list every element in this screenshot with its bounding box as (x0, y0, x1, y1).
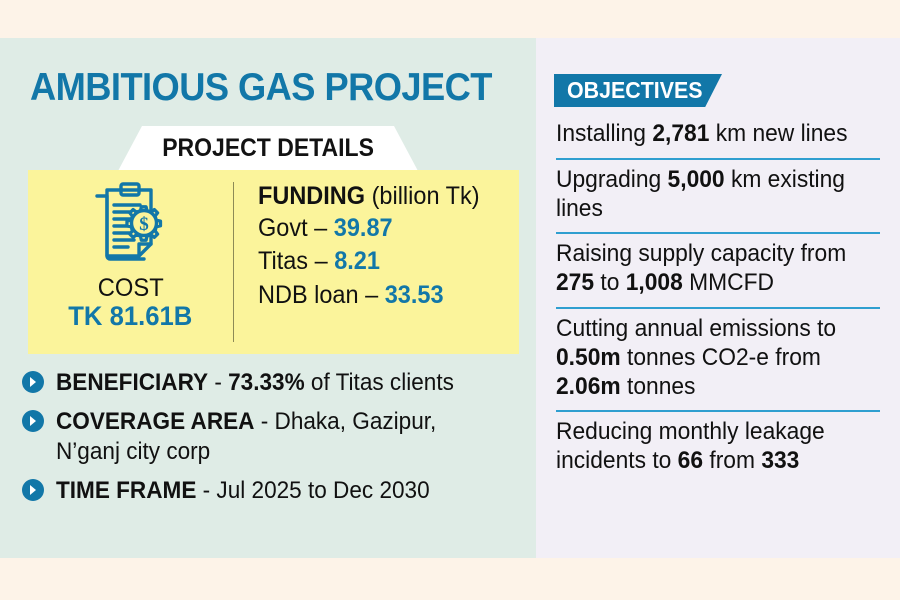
cost-label: COST (98, 276, 164, 301)
project-details-box: $ COST TK 81.61B FUNDING (billion Tk) Go… (28, 170, 519, 354)
funding-heading-label: FUNDING (258, 182, 365, 210)
list-item-rest: Jul 2025 to Dec 2030 (216, 477, 429, 504)
list-item-text: COVERAGE AREA - Dhaka, Gazipur, N’ganj c… (56, 407, 494, 466)
project-details-banner-label: PROJECT DETAILS (162, 134, 374, 163)
list-item: BENEFICIARY - 73.33% of Titas clients (22, 368, 522, 397)
list-item-keyword: BENEFICIARY (56, 369, 208, 396)
list-item-keyword: COVERAGE AREA (56, 408, 254, 435)
page-title: AMBITIOUS GAS PROJECT (30, 66, 492, 110)
objective-text: Cutting annual emissions to 0.50m tonnes… (556, 315, 864, 401)
objective-text: Reducing monthly leakage incidents to 66… (556, 418, 864, 476)
objective-item: Reducing monthly leakage incidents to 66… (556, 410, 880, 485)
list-item-rest: of Titas clients (305, 369, 454, 396)
svg-text:$: $ (139, 214, 149, 235)
funding-row-amount: 8.21 (334, 247, 380, 275)
funding-row-label: Govt (258, 214, 308, 242)
project-details-banner: PROJECT DETAILS (118, 126, 418, 171)
infographic-root: AMBITIOUS GAS PROJECT PROJECT DETAILS (0, 0, 900, 600)
list-item-text: TIME FRAME - Jul 2025 to Dec 2030 (56, 476, 430, 505)
funding-row: Titas – 8.21 (258, 245, 503, 278)
funding-row-label: NDB loan (258, 281, 359, 309)
funding-row-amount: 33.53 (385, 281, 444, 309)
project-facts-list: BENEFICIARY - 73.33% of Titas clients CO… (22, 368, 522, 515)
funding-row-dash: – (365, 281, 378, 309)
objectives-badge: OBJECTIVES (554, 74, 722, 107)
funding-row-amount: 39.87 (334, 214, 393, 242)
chevron-right-circle-icon (22, 410, 44, 432)
funding-row-dash: – (314, 214, 327, 242)
objective-text: Installing 2,781 km new lines (556, 120, 864, 149)
objective-item: Raising supply capacity from 275 to 1,00… (556, 232, 880, 307)
chevron-right-circle-icon (22, 371, 44, 393)
objective-item: Cutting annual emissions to 0.50m tonnes… (556, 307, 880, 410)
funding-heading: FUNDING (billion Tk) (258, 180, 503, 212)
objective-text: Raising supply capacity from 275 to 1,00… (556, 240, 864, 298)
list-item-value: 73.33% (228, 369, 305, 396)
objective-item: Upgrading 5,000 km existing lines (556, 158, 880, 233)
clipboard-gear-dollar-icon: $ (83, 178, 179, 274)
funding-heading-unit: (billion Tk) (372, 182, 480, 210)
chevron-right-circle-icon (22, 479, 44, 501)
funding-row-dash: – (315, 247, 328, 275)
cost-column: $ COST TK 81.61B (28, 170, 233, 354)
funding-row-label: Titas (258, 247, 308, 275)
objectives-badge-label: OBJECTIVES (554, 77, 703, 104)
list-item-keyword: TIME FRAME (56, 477, 196, 504)
list-item: COVERAGE AREA - Dhaka, Gazipur, N’ganj c… (22, 407, 522, 466)
list-item-text: BENEFICIARY - 73.33% of Titas clients (56, 368, 454, 397)
funding-row: Govt – 39.87 (258, 212, 503, 245)
list-item-separator: - (208, 369, 228, 396)
cost-value: TK 81.61B (68, 301, 192, 332)
objective-item: Installing 2,781 km new lines (556, 114, 880, 158)
objectives-list: Installing 2,781 km new lines Upgrading … (556, 114, 880, 485)
objective-text: Upgrading 5,000 km existing lines (556, 166, 864, 224)
list-item: TIME FRAME - Jul 2025 to Dec 2030 (22, 476, 522, 505)
list-item-separator: - (196, 477, 216, 504)
funding-row: NDB loan – 33.53 (258, 279, 503, 312)
funding-column: FUNDING (billion Tk) Govt – 39.87 Titas … (234, 170, 519, 354)
list-item-separator: - (254, 408, 274, 435)
